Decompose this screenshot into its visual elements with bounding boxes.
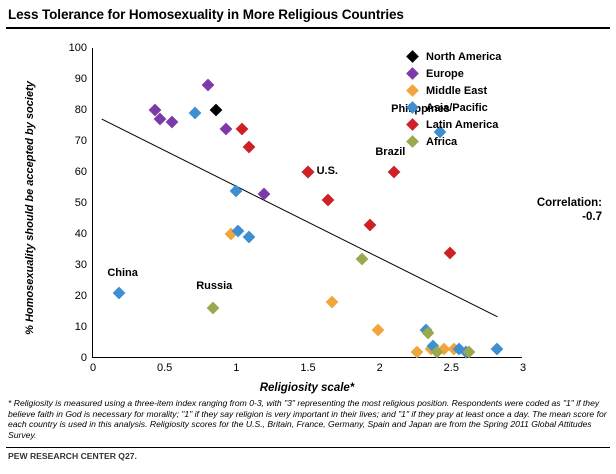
point-annotation: Brazil — [375, 146, 405, 158]
x-tick-label: 0.5 — [157, 362, 172, 374]
y-tick-label: 0 — [81, 352, 87, 364]
legend-swatch-icon — [406, 84, 419, 97]
page-title: Less Tolerance for Homosexuality in More… — [8, 7, 404, 22]
point-annotation: China — [107, 267, 138, 279]
y-tick-label: 80 — [75, 104, 87, 116]
x-tick-label: 0 — [90, 362, 96, 374]
x-tick-label: 2.5 — [444, 362, 459, 374]
legend-label: Asia/Pacific — [426, 102, 488, 114]
legend-item: Africa — [408, 133, 501, 150]
legend-item: North America — [408, 48, 501, 65]
legend-swatch-icon — [406, 50, 419, 63]
y-axis-label: % Homosexuality should be accepted by so… — [24, 53, 36, 363]
legend-item: Asia/Pacific — [408, 99, 501, 116]
correlation-label: Correlation: — [537, 196, 602, 210]
legend-swatch-icon — [406, 118, 419, 131]
point-annotation: Russia — [196, 280, 232, 292]
x-tick-label: 1.5 — [300, 362, 315, 374]
legend-label: Middle East — [426, 85, 487, 97]
x-tick-label: 3 — [520, 362, 526, 374]
footer-divider — [6, 447, 610, 448]
y-tick-label: 20 — [75, 290, 87, 302]
legend-label: Latin America — [426, 119, 498, 131]
legend: North AmericaEuropeMiddle EastAsia/Pacif… — [408, 48, 501, 150]
legend-item: Middle East — [408, 82, 501, 99]
legend-swatch-icon — [406, 101, 419, 114]
legend-label: North America — [426, 51, 501, 63]
y-tick-label: 90 — [75, 73, 87, 85]
chart-page: Less Tolerance for Homosexuality in More… — [0, 0, 616, 474]
y-tick-label: 50 — [75, 197, 87, 209]
legend-label: Africa — [426, 136, 457, 148]
point-annotation: U.S. — [317, 165, 338, 177]
legend-swatch-icon — [406, 135, 419, 148]
legend-item: Latin America — [408, 116, 501, 133]
x-tick-label: 1 — [233, 362, 239, 374]
y-tick-label: 70 — [75, 135, 87, 147]
source-line: PEW RESEARCH CENTER Q27. — [8, 451, 137, 461]
legend-swatch-icon — [406, 67, 419, 80]
y-tick-label: 10 — [75, 321, 87, 333]
legend-label: Europe — [426, 68, 464, 80]
footnote: * Religiosity is measured using a three-… — [8, 398, 608, 440]
y-tick-label: 100 — [69, 42, 87, 54]
x-axis-label: Religiosity scale* — [92, 382, 522, 394]
y-axis-label-wrap: % Homosexuality should be accepted by so… — [30, 48, 50, 358]
legend-item: Europe — [408, 65, 501, 82]
correlation-annotation: Correlation: -0.7 — [537, 196, 602, 224]
y-tick-label: 30 — [75, 259, 87, 271]
correlation-value: -0.7 — [537, 210, 602, 224]
x-tick-label: 2 — [377, 362, 383, 374]
y-tick-label: 40 — [75, 228, 87, 240]
y-tick-label: 60 — [75, 166, 87, 178]
title-divider — [6, 27, 610, 29]
